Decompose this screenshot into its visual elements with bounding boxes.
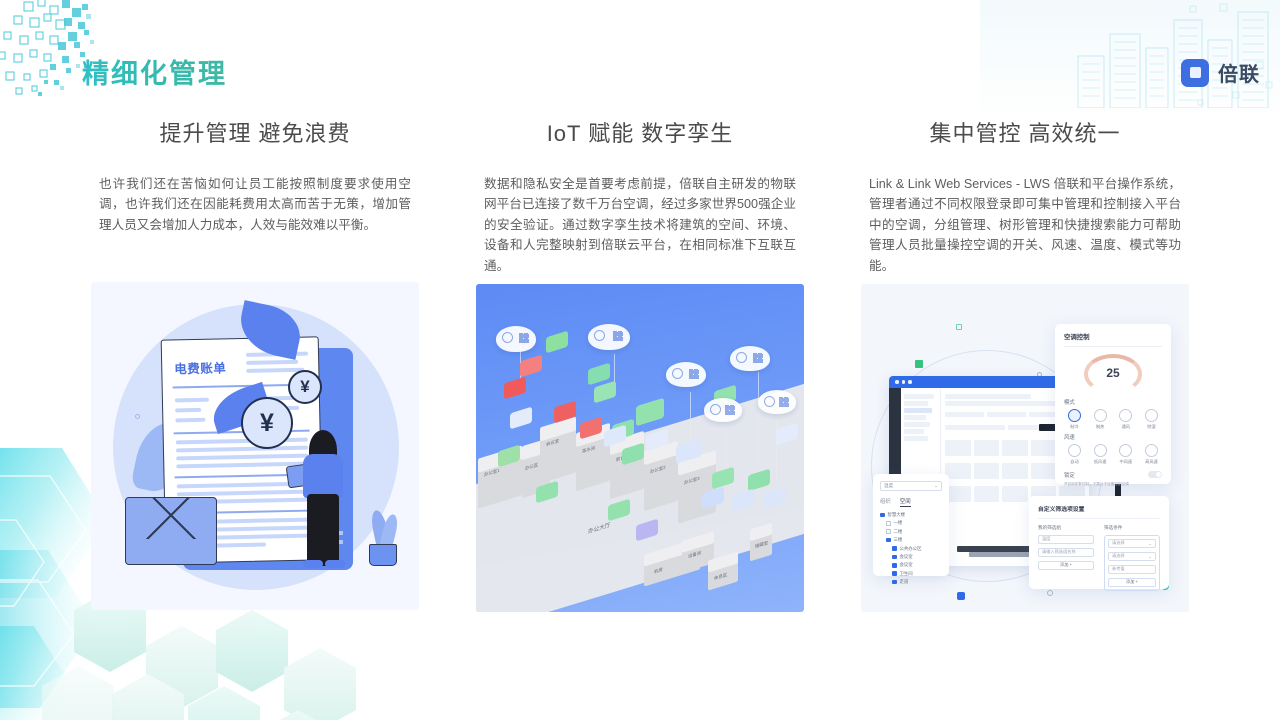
checkbox-icon[interactable] [886,529,891,534]
tree-item-label: 会议室 [900,554,913,560]
column-iot: IoT 赋能 数字孪生 数据和隐私安全是首要考虑前提，倍联自主研发的物联网平台已… [476,110,804,612]
tree-item[interactable]: 公共办公区 [880,546,942,552]
fan-label-auto: 自动 [1064,459,1085,465]
cloud-device-icon [588,324,630,350]
filter-condition-label: 筛选条件 [1104,525,1160,531]
page-title: 精细化管理 [82,52,227,91]
tree-item-label: 一楼 [894,520,903,526]
temperature-dial[interactable]: 25 [1084,354,1142,394]
tree-item-label: 走道 [900,579,909,585]
filter-group-label: 我的筛选组 [1038,525,1094,531]
checkbox-icon[interactable] [892,580,897,585]
content-columns: 提升管理 避免浪费 也许我们还在苦恼如何让员工能按照制度要求使用空调，也许我们还… [0,110,1280,612]
droplet-icon [1145,409,1158,422]
checkbox-icon[interactable] [886,538,891,543]
yuan-coin-large-icon: ¥ [241,397,293,449]
wind-medium-icon [1119,444,1132,457]
checkbox-icon[interactable] [892,546,897,551]
tree-item[interactable]: 会议室 [880,554,942,560]
tree-item-label: 智慧大楼 [888,512,906,518]
ac-control-title: 空调控制 [1064,332,1162,341]
electricity-bill-illustration: 电费账单 [91,282,419,610]
fan-label-medium: 中风速 [1115,459,1136,465]
person-shoe-right [325,560,345,568]
add-button-label: 添加 + [1060,562,1072,568]
filter-condition-box: 请选择⌄ 请选择⌄ 参考值 添加 + [1104,535,1160,591]
tree-item-label: 三楼 [894,537,903,543]
decor-ring [956,324,962,330]
cloud-clock-icon [496,326,536,352]
tree-item-label: 卫生间 [900,571,913,577]
decor-square-green [915,360,923,368]
cloud-user-icon [730,346,770,371]
city-skyline-pattern-icon [1070,0,1280,108]
sun-icon [1094,409,1107,422]
custom-filter-card[interactable]: 自定义筛选项设置 我的筛选组 温度 请输入筛选组名称 添加 + 筛选条件 请选择… [1029,496,1169,589]
add-condition-button[interactable]: 添加 + [1108,578,1156,587]
checkbox-icon[interactable] [886,521,891,526]
tree-item[interactable]: 二楼 [880,529,942,535]
lock-label: 锁定 [1064,471,1075,479]
mode-button-fan[interactable]: 通风 [1115,409,1136,430]
tree-item-label: 会议室 [900,562,913,568]
temperature-select[interactable]: 温度 ⌄ [880,481,942,491]
temperature-value: 25 [1084,366,1142,380]
yuan-coin-small-icon: ¥ [288,370,322,404]
cloud-home-icon [704,398,742,422]
rounded-square-logo-icon [1181,59,1209,87]
condition-select-2[interactable]: 请选择⌄ [1108,552,1156,561]
tree-item[interactable]: 会议室 [880,562,942,568]
cloud-list-icon [666,362,706,387]
mode-buttons: 制冷 制热 通风 除湿 [1064,409,1162,430]
column-1-heading: 提升管理 避免浪费 [91,110,419,158]
mode-button-cool[interactable]: 制冷 [1064,409,1085,430]
lws-dashboard-mockups: 空调控制 25 模式 制冷 制热 通风 除湿 风速 自动 低风速 中风速 [861,284,1189,612]
fan-speed-buttons: 自动 低风速 中风速 高风速 [1064,444,1162,465]
filter-title: 自定义筛选项设置 [1038,504,1160,513]
chip-red [504,377,526,400]
add-condition-label: 添加 + [1126,579,1138,585]
mode-label-fan: 通风 [1115,424,1136,430]
decor-dot [135,414,140,419]
filter-group-column: 我的筛选组 温度 请输入筛选组名称 添加 + [1038,525,1094,591]
checkbox-icon[interactable] [880,513,885,518]
chevron-down-icon: ⌄ [1148,541,1152,546]
wind-low-icon [1094,444,1107,457]
tree-item-label: 二楼 [894,529,903,535]
fan-button-high[interactable]: 高风速 [1141,444,1162,465]
filter-input-temperature[interactable]: 温度 [1038,535,1094,544]
column-3-body: Link & Link Web Services - LWS 倍联和平台操作系统… [861,174,1189,276]
tree-item-label: 公共办公区 [900,546,922,552]
brand-logo: 倍联 [1181,58,1260,87]
person-body [303,454,343,498]
person-legs [307,494,339,566]
plant-pot-icon [369,544,397,566]
select-value: 温度 [884,483,893,489]
lock-row[interactable]: 锁定 [1064,471,1162,479]
chip-green-5 [636,398,664,427]
decor-square-blue [957,592,965,600]
condition-reference-input[interactable]: 参考值 [1108,565,1156,574]
mode-button-heat[interactable]: 制热 [1090,409,1111,430]
column-2-body: 数据和隐私安全是首要考虑前提，倍联自主研发的物联网平台已连接了数千万台空调，经过… [476,174,804,276]
chip-red-2 [520,355,542,378]
mode-label-cool: 制冷 [1064,424,1085,430]
divider [1038,518,1160,519]
column-management: 提升管理 避免浪费 也许我们还在苦恼如何让员工能按照制度要求使用空调，也许我们还… [91,110,419,612]
tab-space[interactable]: 空间 [900,497,911,507]
lock-note: 开启锁定数控制，下属分子设备控制空调 [1064,482,1162,487]
chip-green-2 [588,363,610,386]
snowflake-icon [1068,409,1081,422]
person-shoe-left [303,560,323,568]
fan-icon [1119,409,1132,422]
envelope-icon [125,497,217,565]
chip-green [546,331,568,354]
bill-title: 电费账单 [174,357,226,377]
add-filter-group-button[interactable]: 添加 + [1038,561,1094,570]
chip-green-3 [594,381,616,404]
chip-light-2 [510,407,532,430]
tree-item[interactable]: 卫生间 [880,571,942,577]
chevron-down-icon: ⌄ [1148,554,1152,559]
tree-item[interactable]: 智慧大楼 [880,512,942,518]
fan-label-high: 高风速 [1141,459,1162,465]
ac-control-card[interactable]: 空调控制 25 模式 制冷 制热 通风 除湿 风速 自动 低风速 中风速 [1055,324,1171,484]
tree-item[interactable]: 三楼 [880,537,942,543]
auto-icon [1068,444,1081,457]
column-centralized-control: 集中管控 高效统一 Link & Link Web Services - LWS… [861,110,1189,612]
brand-name: 倍联 [1218,58,1260,87]
filter-condition-column: 筛选条件 请选择⌄ 请选择⌄ 参考值 添加 + [1104,525,1160,591]
mode-button-dry[interactable]: 除湿 [1141,409,1162,430]
space-tree-card[interactable]: 温度 ⌄ 组织 空间 智慧大楼 一楼 二楼 三楼 公共办公区 会议室 会议室 卫… [873,474,949,576]
condition-select-value: 请选择 [1112,540,1125,546]
lock-toggle[interactable] [1148,471,1162,478]
iot-digital-twin-isometric: 办公室1 办公区 会议室 茶水间 前台 办公室2 办公室3 办公大厅 机房 [476,284,804,612]
mode-label-heat: 制热 [1090,424,1111,430]
fan-label-low: 低风速 [1090,459,1111,465]
divider [1064,346,1162,347]
tree-item[interactable]: 走道 [880,579,942,585]
condition-select-1[interactable]: 请选择⌄ [1108,539,1156,548]
checkbox-icon[interactable] [892,571,897,576]
filter-name-input[interactable]: 请输入筛选组名称 [1038,548,1094,557]
column-2-heading: IoT 赋能 数字孪生 [476,110,804,158]
tree-item[interactable]: 一楼 [880,520,942,526]
mode-label-dry: 除湿 [1141,424,1162,430]
tab-organization[interactable]: 组织 [880,497,891,507]
fan-button-medium[interactable]: 中风速 [1115,444,1136,465]
checkbox-icon[interactable] [892,563,897,568]
column-3-heading: 集中管控 高效统一 [861,110,1189,158]
fan-button-low[interactable]: 低风速 [1090,444,1111,465]
filter-name-placeholder: 请输入筛选组名称 [1042,549,1076,555]
mode-label: 模式 [1064,398,1162,406]
wind-high-icon [1145,444,1158,457]
column-1-body: 也许我们还在苦恼如何让员工能按照制度要求使用空调，也许我们还在因能耗费用太高而苦… [91,174,419,274]
fan-button-auto[interactable]: 自动 [1064,444,1085,465]
tree-tabs: 组织 空间 [880,497,942,507]
chevron-down-icon: ⌄ [934,483,938,489]
filter-input-value: 温度 [1042,536,1050,542]
checkbox-icon[interactable] [892,555,897,560]
fan-speed-label: 风速 [1064,433,1162,441]
cloud-settings-icon [758,390,796,414]
condition-select-value: 请选择 [1112,553,1125,559]
condition-reference-value: 参考值 [1112,566,1125,572]
